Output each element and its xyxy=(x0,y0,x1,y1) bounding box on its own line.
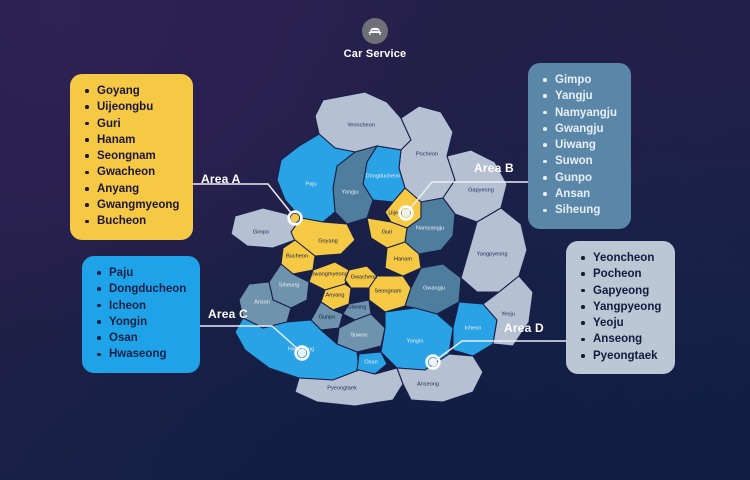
map-label-gunpo: Gunpo xyxy=(319,314,336,320)
gyeonggi-map: Yeoncheon Pocheon Dongducheon Paju Yangj… xyxy=(215,88,545,393)
list-item[interactable]: Gwangmyeong xyxy=(84,197,179,213)
list-item[interactable]: Anyang xyxy=(84,181,179,197)
map-label-icheon: Icheon xyxy=(465,325,482,331)
list-item[interactable]: Suwon xyxy=(542,153,617,169)
map-label-dongducheon: Dongducheon xyxy=(366,173,401,179)
map-label-pocheon: Pocheon xyxy=(416,151,438,157)
map-label-pyeongtaek: Pyeongtaek xyxy=(327,385,357,391)
list-item[interactable]: Anseong xyxy=(580,331,661,347)
map-label-suwon: Suwon xyxy=(350,332,367,338)
map-label-namyangju: Namyangju xyxy=(416,225,444,231)
map-label-hanam: Hanam xyxy=(394,256,412,262)
map-label-goyang: Goyang xyxy=(318,238,338,244)
list-item[interactable]: Ansan xyxy=(542,186,617,202)
list-item[interactable]: Goyang xyxy=(84,83,179,99)
map-label-hwaseong: Hwaseong xyxy=(288,346,314,352)
map-label-guri: Guri xyxy=(382,229,393,235)
header: Car Service xyxy=(0,18,750,60)
map-label-yangju: Yangju xyxy=(341,189,358,195)
area-d-card[interactable]: Yeoncheon Pocheon Gapyeong Yangpyeong Ye… xyxy=(566,241,675,374)
list-item[interactable]: Gunpo xyxy=(542,170,617,186)
area-c-card[interactable]: Paju Dongducheon Icheon Yongin Osan Hwas… xyxy=(82,256,200,373)
list-item[interactable]: Pocheon xyxy=(580,266,661,282)
list-item[interactable]: Paju xyxy=(96,265,186,281)
map-label-uijeongbu: Uijeongbu xyxy=(388,210,413,216)
list-item[interactable]: Namyangju xyxy=(542,105,617,121)
car-service-icon xyxy=(362,18,388,44)
list-item[interactable]: Yangju xyxy=(542,88,617,104)
list-item[interactable]: Guri xyxy=(84,116,179,132)
list-item[interactable]: Seongnam xyxy=(84,148,179,164)
list-item[interactable]: Siheung xyxy=(542,202,617,218)
map-label-bucheon: Bucheon xyxy=(286,253,308,259)
map-label-seongnam: Seongnam xyxy=(374,288,401,294)
map-label-osan: Osan xyxy=(364,359,377,365)
area-b-card[interactable]: Gimpo Yangju Namyangju Gwangju Uiwang Su… xyxy=(528,63,631,229)
area-d-list: Yeoncheon Pocheon Gapyeong Yangpyeong Ye… xyxy=(580,250,661,364)
map-label-gapyeong: Gapyeong xyxy=(468,187,494,193)
map-label-siheung: Siheung xyxy=(279,282,300,288)
list-item[interactable]: Hwaseong xyxy=(96,346,186,362)
map-label-yongin: Yongin xyxy=(407,338,424,344)
list-item[interactable]: Gwangju xyxy=(542,121,617,137)
area-a-card[interactable]: Goyang Uijeongbu Guri Hanam Seongnam Gwa… xyxy=(70,74,193,240)
list-item[interactable]: Gapyeong xyxy=(580,283,661,299)
list-item[interactable]: Yeoju xyxy=(580,315,661,331)
list-item[interactable]: Osan xyxy=(96,330,186,346)
area-label-a: Area A xyxy=(201,172,240,186)
region-gimpo[interactable] xyxy=(231,208,301,248)
area-label-d: Area D xyxy=(504,321,544,335)
map-label-ansan: Ansan xyxy=(254,299,270,305)
map-label-yeoju: Yeoju xyxy=(501,311,515,317)
map-label-gwangmyeong: Gwangmyeong xyxy=(310,271,348,277)
list-item[interactable]: Icheon xyxy=(96,298,186,314)
list-item[interactable]: Yangpyeong xyxy=(580,299,661,315)
map-label-yangpyeong: Yangpyeong xyxy=(476,251,507,257)
list-item[interactable]: Gimpo xyxy=(542,72,617,88)
header-title: Car Service xyxy=(344,48,407,60)
map-label-anseong: Anseong xyxy=(417,381,439,387)
map-label-paju: Paju xyxy=(305,181,316,187)
map-label-gwangju: Gwangju xyxy=(423,285,445,291)
area-b-list: Gimpo Yangju Namyangju Gwangju Uiwang Su… xyxy=(542,72,617,219)
list-item[interactable]: Uiwang xyxy=(542,137,617,153)
area-label-c: Area C xyxy=(208,307,248,321)
list-item[interactable]: Bucheon xyxy=(84,213,179,229)
map-label-gwacheon: Gwacheon xyxy=(351,274,378,280)
list-item[interactable]: Gwacheon xyxy=(84,164,179,180)
list-item[interactable]: Uijeongbu xyxy=(84,99,179,115)
area-label-b: Area B xyxy=(474,161,514,175)
list-item[interactable]: Pyeongtaek xyxy=(580,348,661,364)
list-item[interactable]: Hanam xyxy=(84,132,179,148)
map-label-yeoncheon: Yeoncheon xyxy=(347,122,375,128)
area-c-list: Paju Dongducheon Icheon Yongin Osan Hwas… xyxy=(96,265,186,363)
list-item[interactable]: Yongin xyxy=(96,314,186,330)
map-label-anyang: Anyang xyxy=(326,292,345,298)
area-a-list: Goyang Uijeongbu Guri Hanam Seongnam Gwa… xyxy=(84,83,179,230)
diagram-canvas: Car Service xyxy=(0,0,750,480)
map-label-uiwang: Uiwang xyxy=(348,304,367,310)
map-label-gimpo: Gimpo xyxy=(253,229,269,235)
list-item[interactable]: Yeoncheon xyxy=(580,250,661,266)
list-item[interactable]: Dongducheon xyxy=(96,281,186,297)
